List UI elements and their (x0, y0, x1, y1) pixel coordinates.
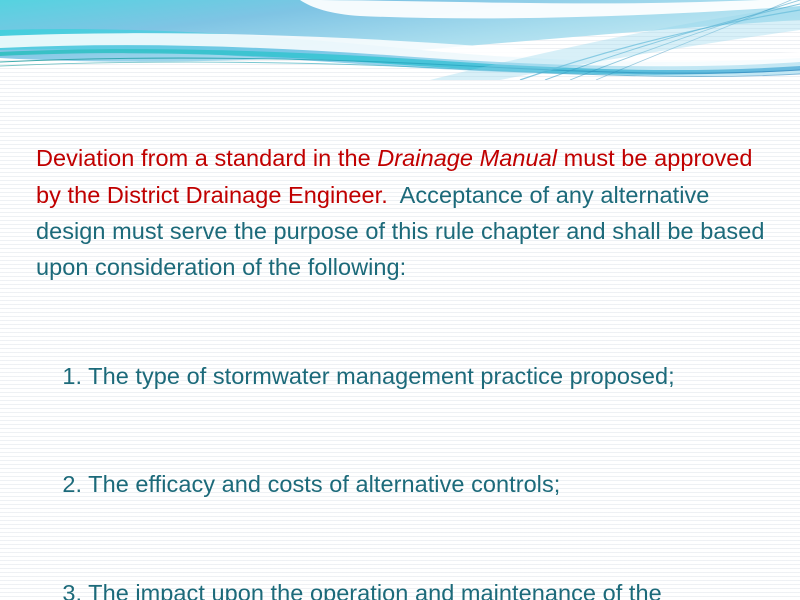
text-run-red-1: Deviation from a standard in the (36, 145, 377, 171)
list-item: 1. The type of stormwater management pra… (36, 358, 768, 394)
text-run-red-italic: Drainage Manual (377, 145, 557, 171)
slide-body-text: Deviation from a standard in the Drainag… (36, 68, 768, 600)
list-item: 2. The efficacy and costs of alternative… (36, 466, 768, 502)
presentation-slide: Deviation from a standard in the Drainag… (0, 0, 800, 600)
paragraph-intro: Deviation from a standard in the Drainag… (36, 140, 768, 285)
list-item: 3. The impact upon the operation and mai… (36, 575, 768, 600)
